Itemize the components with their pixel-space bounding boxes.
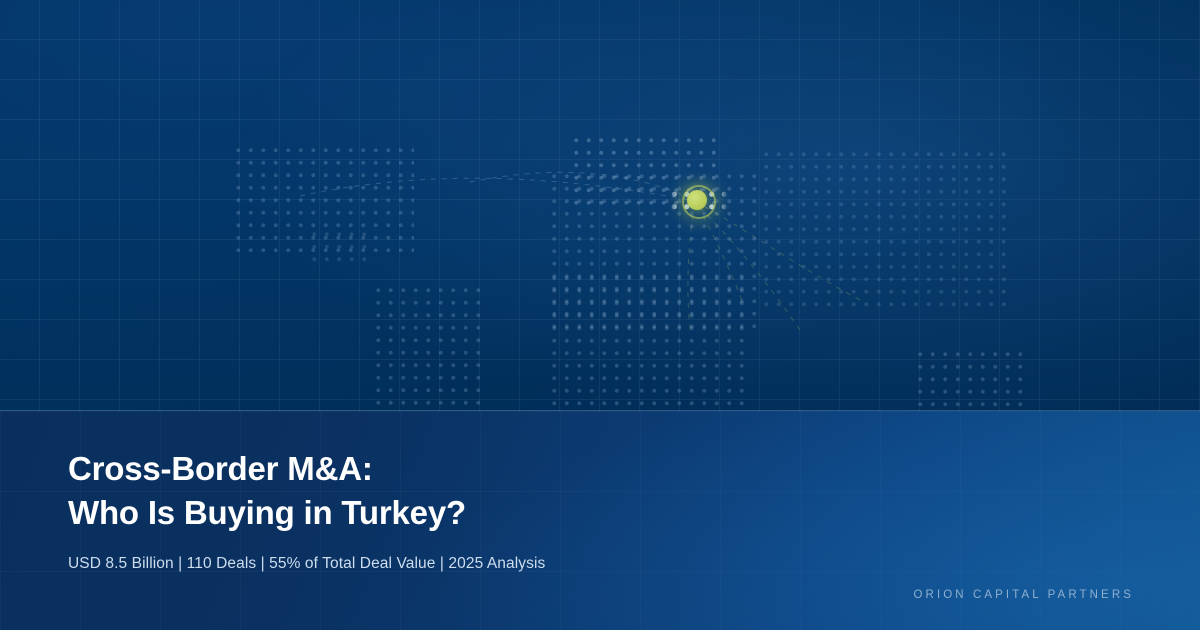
page-title-line2: Who Is Buying in Turkey? <box>68 494 466 531</box>
turkey-marker <box>687 190 707 210</box>
page-subtitle: USD 8.5 Billion | 110 Deals | 55% of Tot… <box>68 553 545 575</box>
page-title: Cross-Border M&A: Who Is Buying in Turke… <box>68 447 466 535</box>
deal-flow-arcs <box>0 0 1200 411</box>
poster-canvas: Cross-Border M&A: Who Is Buying in Turke… <box>0 0 1200 630</box>
world-map-stage <box>0 0 1200 411</box>
brand-wordmark: ORION CAPITAL PARTNERS <box>914 587 1135 603</box>
page-title-line1: Cross-Border M&A: <box>68 450 373 487</box>
